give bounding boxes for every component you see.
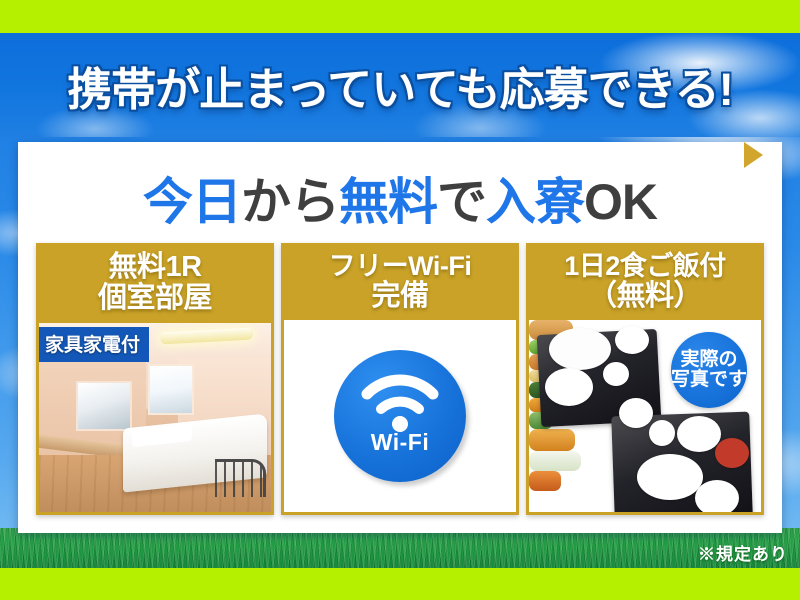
card-room-header: 無料1R 個室部屋 <box>39 246 271 323</box>
wifi-icon-wrapper: Wi-Fi <box>284 320 516 512</box>
subheading-seg-nyuryou: 入寮 <box>486 174 584 230</box>
room-window-left <box>76 381 132 430</box>
feature-cards: 無料1R 個室部屋 <box>36 243 764 515</box>
grass-strip <box>0 528 800 568</box>
subheading-seg-muryou: 無料 <box>339 174 437 230</box>
card-room-body: 家具家電付 <box>39 323 271 512</box>
poster-root: 携帯が止まっていても応募できる! ※規定あり 今日から無料で入寮OK 無料1R … <box>0 0 800 600</box>
subheading-seg-kara: から <box>241 174 339 230</box>
card-meals-title-line1: 1日2食ご飯付 <box>531 252 759 281</box>
bottom-green-band <box>0 568 800 600</box>
badge-real-photo-line1: 実際の <box>680 350 737 371</box>
card-room[interactable]: 無料1R 個室部屋 <box>36 243 274 515</box>
headline-text: 携帯が止まっていても応募できる! <box>67 53 732 118</box>
card-wifi[interactable]: フリーWi-Fi 完備 Wi-Fi <box>281 243 519 515</box>
card-room-title-line2: 個室部屋 <box>41 283 269 314</box>
card-room-title-line1: 無料1R <box>41 252 269 283</box>
subheading-seg-de: で <box>437 174 486 230</box>
meals-photo: 実際の 写真です <box>529 320 761 512</box>
card-wifi-title-line2: 完備 <box>286 281 514 312</box>
subheading-seg-ok: OK <box>584 174 657 230</box>
wifi-waves-icon <box>361 372 439 432</box>
top-green-band <box>0 0 800 33</box>
card-wifi-title-line1: フリーWi-Fi <box>286 252 514 281</box>
card-meals-title-line2: （無料） <box>531 281 759 312</box>
card-wifi-header: フリーWi-Fi 完備 <box>284 246 516 320</box>
badge-real-photo-line2: 写真です <box>671 370 747 391</box>
card-meals-body: 実際の 写真です <box>529 320 761 512</box>
headline-banner: 携帯が止まっていても応募できる! <box>0 33 800 137</box>
food-cabbage <box>529 451 581 471</box>
badge-real-photo: 実際の 写真です <box>671 332 747 408</box>
footnote-text: ※規定あり <box>698 540 788 565</box>
wifi-icon: Wi-Fi <box>334 350 466 482</box>
wifi-icon-label: Wi-Fi <box>371 429 430 456</box>
food-side-lower <box>529 471 561 491</box>
room-window-right <box>148 364 194 415</box>
subheading: 今日から無料で入寮OK <box>18 162 782 234</box>
card-meals[interactable]: 1日2食ご飯付 （無料） <box>526 243 764 515</box>
card-meals-header: 1日2食ご飯付 （無料） <box>529 246 761 320</box>
badge-furniture-included: 家具家電付 <box>39 327 149 362</box>
dish-side-bowl-lower <box>695 480 739 512</box>
room-bed-frame <box>215 459 266 497</box>
card-wifi-body: Wi-Fi <box>284 320 516 512</box>
white-content-panel: 今日から無料で入寮OK 無料1R 個室部屋 <box>18 142 782 533</box>
subheading-seg-kyou: 今日 <box>143 174 241 230</box>
food-korokke <box>529 429 575 451</box>
